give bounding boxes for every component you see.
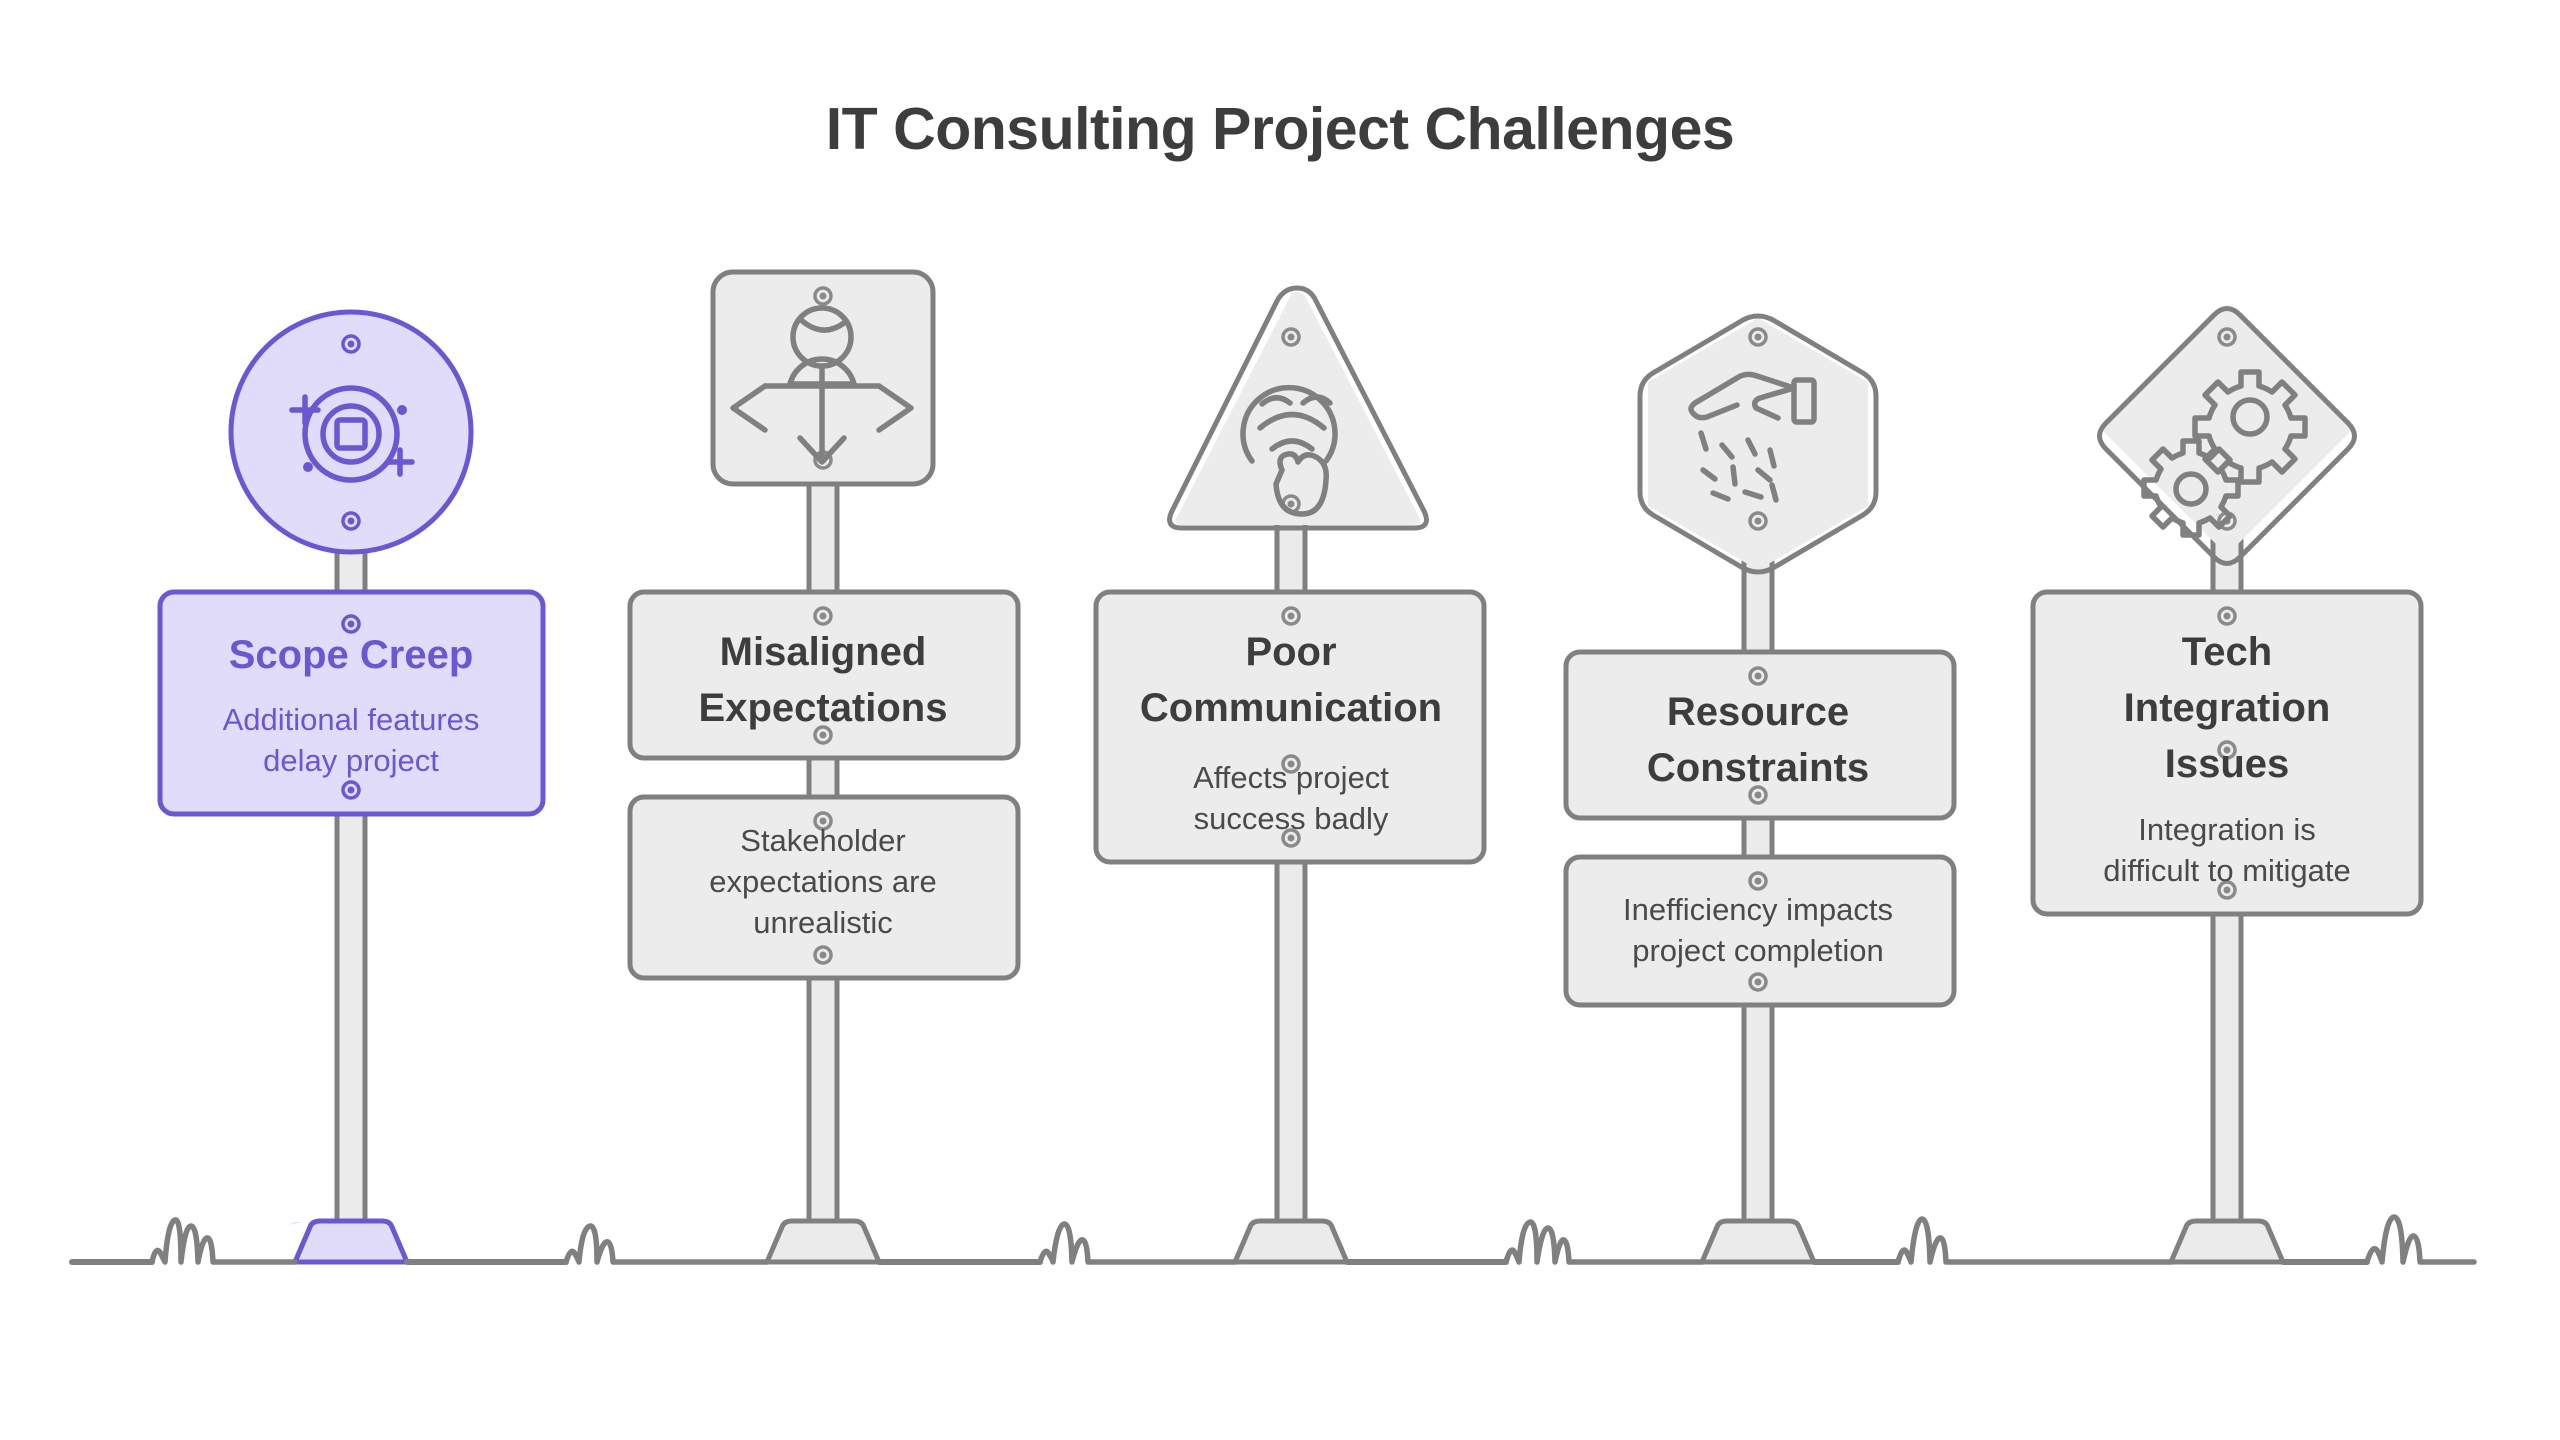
base-tech-integration [2171, 1221, 2283, 1262]
sign-description-line: unrealistic [753, 905, 893, 940]
bolt [815, 288, 831, 304]
base-shim [288, 1222, 302, 1225]
signpost-misaligned-expectations[interactable]: Misaligned Expectations Stakeholder expe… [630, 272, 1018, 1262]
sign-title-line: Constraints [1647, 746, 1869, 790]
bolt [1750, 873, 1766, 889]
base-resource-constraints [1702, 1221, 1814, 1262]
bolt [343, 513, 359, 529]
sign-title-line: Integration [2124, 686, 2331, 730]
base-scope-creep [295, 1221, 407, 1262]
sign-title-line: Resource [1667, 690, 1849, 734]
bolt [343, 782, 359, 798]
signpost-tech-integration[interactable]: Tech Integration Issues Integration is d… [2033, 305, 2421, 1262]
sign-description-line: Integration is [2138, 812, 2316, 847]
bolt [1750, 974, 1766, 990]
bolt [2219, 329, 2235, 345]
bolt [2219, 608, 2235, 624]
bolt [343, 616, 359, 632]
bolt [815, 608, 831, 624]
sign-description-line: Additional features [223, 702, 480, 737]
sign-title-line: Poor [1245, 630, 1336, 674]
bolt [1750, 329, 1766, 345]
sign-description-line: delay project [263, 743, 439, 778]
sign-title-line: Issues [2165, 742, 2290, 786]
signposts-scene: Scope Creep Additional features delay pr… [0, 0, 2560, 1440]
bolt [343, 336, 359, 352]
sign-description-line: Affects project [1193, 760, 1389, 795]
bolt [1283, 329, 1299, 345]
sign-title: Scope Creep [229, 633, 474, 677]
sign-description-line: Stakeholder [740, 823, 905, 858]
sparkle-dot [397, 405, 407, 415]
signpost-poor-communication[interactable]: Poor Communication Affects project succe… [1096, 288, 1484, 1262]
base-misaligned [767, 1221, 879, 1262]
bolt [1283, 608, 1299, 624]
signpost-scope-creep[interactable]: Scope Creep Additional features delay pr… [160, 312, 543, 1262]
sign-title-line: Communication [1140, 686, 1442, 730]
bolt [1750, 668, 1766, 684]
sign-title-line: Tech [2182, 630, 2272, 674]
signpost-resource-constraints[interactable]: Resource Constraints Inefficiency impact… [1566, 316, 1954, 1262]
sparkle-dot [303, 462, 313, 472]
base-poor-communication [1235, 1221, 1347, 1262]
sign-description-line: Inefficiency impacts [1623, 892, 1893, 927]
sign-title-line: Expectations [699, 686, 948, 730]
head-triangle-fill [1176, 292, 1420, 525]
sign-description-line: project completion [1632, 933, 1884, 968]
bolt [815, 947, 831, 963]
sign-title-line: Misaligned [720, 630, 927, 674]
sign-description-line: success badly [1194, 801, 1389, 836]
bolt [1750, 513, 1766, 529]
sign-description-line: difficult to mitigate [2103, 853, 2351, 888]
sign-description-line: expectations are [709, 864, 936, 899]
diagram-canvas: IT Consulting Project Challenges [0, 0, 2560, 1440]
